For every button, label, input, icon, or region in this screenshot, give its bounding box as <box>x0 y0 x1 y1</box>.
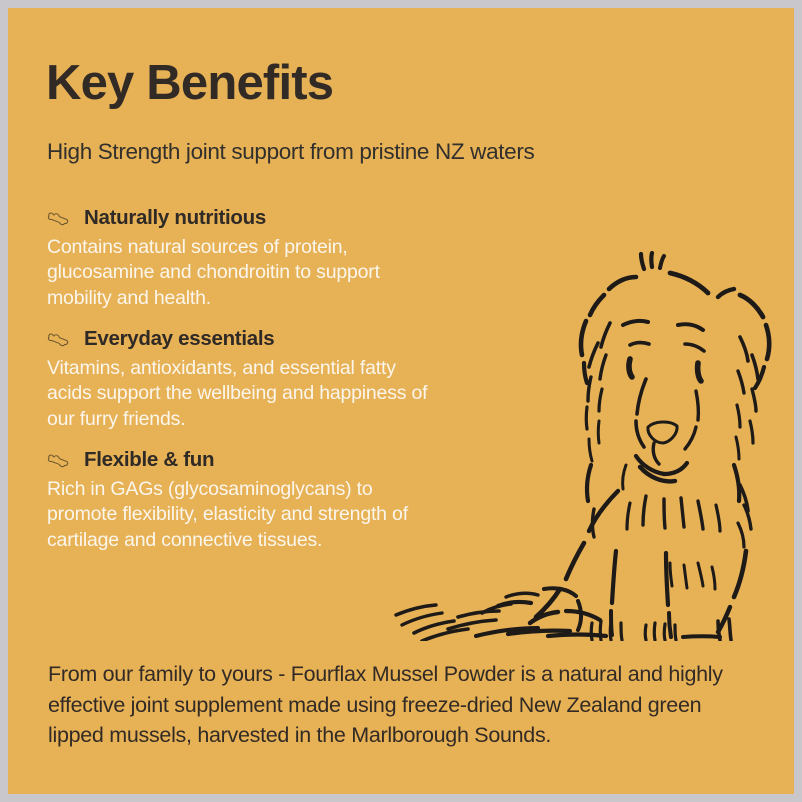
benefits-list: Naturally nutritious Contains natural so… <box>47 206 447 569</box>
benefit-title: Flexible & fun <box>84 448 214 472</box>
benefit-item: Everyday essentials Vitamins, antioxidan… <box>47 327 447 432</box>
benefit-item: Naturally nutritious Contains natural so… <box>47 206 447 311</box>
footer-note: From our family to yours - Fourflax Muss… <box>48 659 758 751</box>
bone-icon <box>47 450 77 470</box>
benefit-header: Naturally nutritious <box>47 206 447 230</box>
card-content: Key Benefits High Strength joint support… <box>8 8 794 794</box>
benefit-item: Flexible & fun Rich in GAGs (glycosamino… <box>47 448 447 553</box>
benefit-description: Contains natural sources of protein, glu… <box>47 235 437 311</box>
benefit-title: Everyday essentials <box>84 327 274 351</box>
page-title: Key Benefits <box>46 58 333 109</box>
benefit-title: Naturally nutritious <box>84 206 266 230</box>
benefit-header: Everyday essentials <box>47 327 447 351</box>
page-subtitle: High Strength joint support from pristin… <box>47 139 534 165</box>
bone-icon <box>47 329 77 349</box>
benefit-header: Flexible & fun <box>47 448 447 472</box>
bone-icon <box>47 208 77 228</box>
key-benefits-card: Key Benefits High Strength joint support… <box>8 8 794 794</box>
benefit-description: Rich in GAGs (glycosaminoglycans) to pro… <box>47 477 437 553</box>
benefit-description: Vitamins, antioxidants, and essential fa… <box>47 356 437 432</box>
